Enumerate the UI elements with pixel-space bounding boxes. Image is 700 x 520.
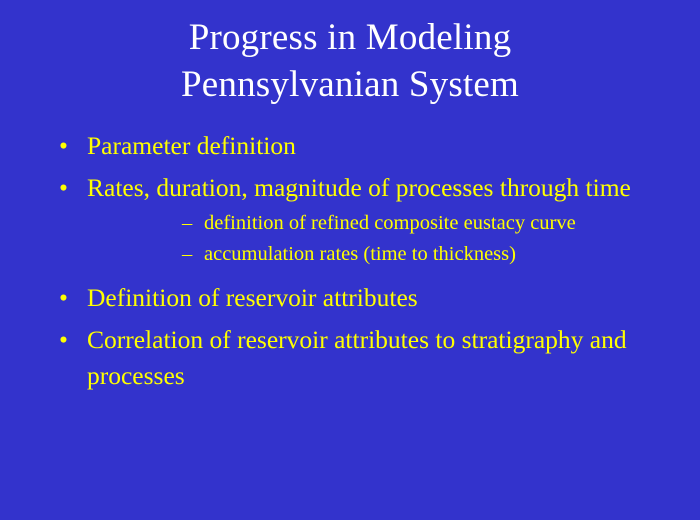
slide-title-line-1: Progress in Modeling xyxy=(0,14,700,61)
slide-title: Progress in Modeling Pennsylvanian Syste… xyxy=(0,14,700,108)
bullet-marker-icon: • xyxy=(59,170,73,206)
dash-marker-icon: – xyxy=(182,208,198,239)
dash-marker-icon: – xyxy=(182,239,198,270)
bullet-item-correlation-reservoir-attributes: • Correlation of reservoir attributes to… xyxy=(0,322,700,394)
bullet-item-parameter-definition: • Parameter definition xyxy=(0,128,700,164)
bullet-marker-icon: • xyxy=(59,280,73,316)
bullet-text: Parameter definition xyxy=(87,131,296,160)
sub-bullet-list: – definition of refined composite eustac… xyxy=(87,208,640,270)
slide-title-line-2: Pennsylvanian System xyxy=(0,61,700,108)
bullet-marker-icon: • xyxy=(59,128,73,164)
sub-bullet-text: definition of refined composite eustacy … xyxy=(204,212,576,234)
bullet-item-definition-reservoir-attributes: • Definition of reservoir attributes xyxy=(0,280,700,316)
bullet-text: Correlation of reservoir attributes to s… xyxy=(87,325,627,390)
bullet-marker-icon: • xyxy=(59,322,73,358)
sub-bullet-text: accumulation rates (time to thickness) xyxy=(204,243,516,265)
bullet-item-rates-duration-magnitude: • Rates, duration, magnitude of processe… xyxy=(0,170,700,270)
bullet-text: Rates, duration, magnitude of processes … xyxy=(87,173,631,202)
slide-bullet-list: • Parameter definition • Rates, duration… xyxy=(0,128,700,400)
sub-bullet-item-eustacy-curve: – definition of refined composite eustac… xyxy=(87,208,640,239)
bullet-text: Definition of reservoir attributes xyxy=(87,283,418,312)
sub-bullet-item-accumulation-rates: – accumulation rates (time to thickness) xyxy=(87,239,640,270)
presentation-slide: Progress in Modeling Pennsylvanian Syste… xyxy=(0,0,700,520)
